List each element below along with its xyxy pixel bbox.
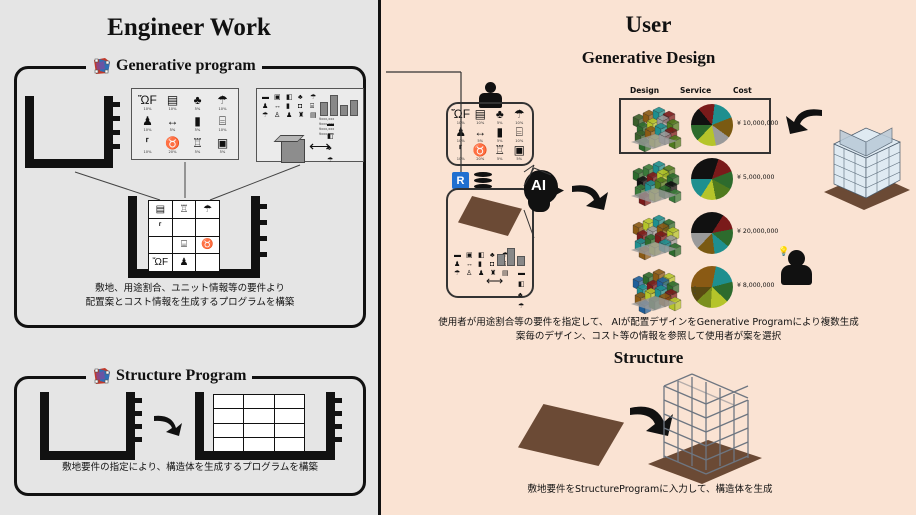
chair-icon: ♉: [196, 237, 219, 254]
caption-line-2: 案毎のデザイン、コスト等の情報を参照して使用者が案を選択: [381, 330, 916, 344]
column-header-cost: Cost: [733, 86, 752, 95]
bed-icon: ὬF: [149, 254, 172, 271]
faucet-icon: ⸢: [149, 219, 172, 236]
plan-cell: [196, 219, 219, 236]
caption-line-1: 敷地、用途割合、ユニット情報等の要件より: [20, 282, 360, 296]
diagram-root: Engineer Work User Generative Design Str…: [0, 0, 916, 515]
program-logo-icon: [92, 367, 112, 385]
section-title-structure: Structure: [381, 348, 916, 368]
structure-program-label: Structure Program: [86, 366, 252, 386]
thinking-person-icon: 💡: [778, 246, 814, 286]
cost-value: ¥ 20,000,000: [737, 228, 778, 235]
voxel-building-icon: [627, 156, 679, 204]
plan-cell: [149, 237, 172, 254]
column-header-service: Service: [680, 86, 711, 95]
service-pie-chart: [691, 104, 733, 146]
design-option-row[interactable]: ¥ 10,000,000: [619, 100, 771, 154]
voxel-building-icon: [627, 102, 679, 150]
caption-line-1: 使用者が用途割合等の要件を指定して、 AIが配置デザインをGenerative …: [381, 316, 916, 330]
book-icon: ⌸: [173, 237, 196, 254]
structure-program-label-text: Structure Program: [116, 367, 246, 385]
generative-design-caption: 使用者が用途割合等の要件を指定して、 AIが配置デザインをGenerative …: [381, 316, 916, 344]
design-option-row[interactable]: ¥ 5,000,000: [619, 154, 771, 208]
caption-line-2: 配置案とコスト情報を生成するプログラムを構築: [20, 296, 360, 310]
structure-program-caption: 敷地要件の指定により、構造体を生成するプログラムを構築: [20, 461, 360, 475]
structure-frame-grid: [213, 394, 305, 452]
service-pie-chart: [691, 158, 733, 200]
structure-site-before-icon: [40, 392, 135, 460]
cost-value: ¥ 8,000,000: [737, 282, 774, 289]
structure-caption: 敷地要件をStructureProgramに入力して、構造体を生成: [450, 483, 850, 497]
table-icon: ♖: [173, 201, 196, 218]
kitchen-icon: ▤: [149, 201, 172, 218]
page-title-user: User: [381, 12, 916, 38]
cost-value: ¥ 10,000,000: [737, 120, 778, 127]
shower-icon: ☂: [196, 201, 219, 218]
generative-program-caption: 敷地、用途割合、ユニット情報等の要件より 配置案とコスト情報を生成するプログラム…: [20, 282, 360, 310]
curved-arrow-icon: [152, 412, 186, 438]
column-header-design: Design: [630, 86, 659, 95]
black-arrow-icon: [570, 180, 612, 214]
vase-icon: ♟: [173, 254, 196, 271]
plan-cell: [196, 254, 219, 271]
plan-unit-grid: ▤♖☂⸢⌸♉ὬF♟: [148, 200, 220, 272]
plan-cell: [173, 219, 196, 236]
steel-frame-icon: [640, 372, 770, 490]
service-pie-chart: [691, 212, 733, 254]
voxel-building-icon: [627, 264, 679, 312]
cost-value: ¥ 5,000,000: [737, 174, 774, 181]
voxel-building-icon: [627, 210, 679, 258]
design-option-row[interactable]: ¥ 20,000,000: [619, 208, 771, 262]
more-indicator: ⋮: [690, 288, 700, 294]
result-building-icon: [818, 110, 914, 214]
